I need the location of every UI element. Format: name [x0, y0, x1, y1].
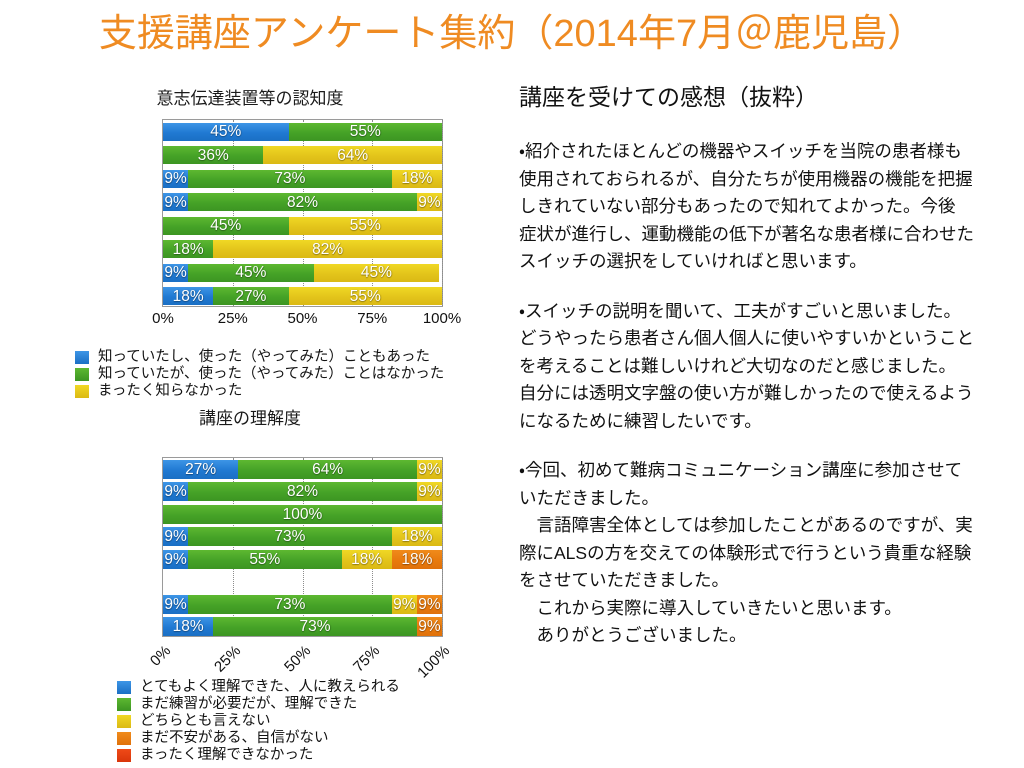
chart-awareness-legend: 知っていたし、使った（やってみた）こともあった知っていたが、使った（やってみた）…: [75, 349, 444, 400]
bar-value-label: 82%: [312, 242, 343, 258]
bar-value-label: 9%: [418, 462, 440, 478]
legend-swatch-icon: [75, 351, 89, 364]
comments-heading: 講座を受けての感想（抜粋）: [519, 82, 1014, 112]
bar-value-label: 73%: [274, 529, 305, 545]
bar-segment: 9%: [417, 482, 442, 501]
bar-row: 9%73%18%: [163, 527, 442, 546]
bar-segment: 73%: [188, 170, 392, 188]
bar-segment: 55%: [289, 123, 442, 141]
bar-value-label: 55%: [350, 289, 381, 305]
bar-value-label: 9%: [164, 195, 186, 211]
bar-value-label: 9%: [164, 171, 186, 187]
bar-segment: 9%: [163, 193, 188, 211]
bar-row: 9%82%9%: [163, 482, 442, 501]
bar-segment: 45%: [163, 217, 289, 235]
bar-value-label: 18%: [351, 552, 382, 568]
bar-segment: 18%: [392, 527, 442, 546]
x-tick-label: 0%: [152, 311, 174, 327]
bar-segment: 82%: [188, 193, 417, 211]
chart-awareness-x-axis: 0%25%50%75%100%: [162, 311, 443, 341]
comments-list: ・紹介されたほとんどの機器やスイッチを当院の患者様も 使用されておられるが、自分…: [519, 138, 1014, 650]
bar-segment: 100%: [163, 505, 442, 524]
bar-segment: 9%: [163, 550, 188, 569]
bar-segment: 55%: [289, 287, 442, 305]
legend-item[interactable]: 知っていたが、使った（やってみた）ことはなかった: [75, 366, 444, 383]
legend-label: 知っていたが、使った（やってみた）ことはなかった: [98, 366, 444, 383]
comments-panel: 講座を受けての感想（抜粋） ・紹介されたほとんどの機器やスイッチを当院の患者様も…: [519, 82, 1014, 650]
bar-value-label: 82%: [287, 484, 318, 500]
bar-value-label: 9%: [418, 484, 440, 500]
bar-value-label: 55%: [249, 552, 280, 568]
legend-label: どちらとも言えない: [140, 713, 271, 730]
bar-value-label: 45%: [235, 265, 266, 281]
bar-segment: 45%: [314, 264, 440, 282]
bar-value-label: 9%: [418, 195, 440, 211]
legend-swatch-icon: [117, 698, 131, 711]
bar-segment: 64%: [238, 460, 417, 479]
chart-understanding-legend: とてもよく理解できた、人に教えられるまだ練習が必要だが、理解できたどちらとも言え…: [117, 679, 400, 764]
bar-value-label: 36%: [198, 148, 229, 164]
bar-segment: 9%: [392, 595, 417, 614]
legend-item[interactable]: とてもよく理解できた、人に教えられる: [117, 679, 400, 696]
x-tick-label: 0%: [148, 643, 175, 670]
bar-value-label: 73%: [274, 171, 305, 187]
legend-item[interactable]: 知っていたし、使った（やってみた）こともあった: [75, 349, 444, 366]
x-tick-label: 100%: [423, 311, 461, 327]
bar-row: 18%82%: [163, 240, 442, 258]
legend-swatch-icon: [117, 732, 131, 745]
bar-segment: 18%: [163, 287, 213, 305]
bar-segment: 9%: [163, 527, 188, 546]
x-tick-label: 75%: [357, 311, 387, 327]
legend-item[interactable]: どちらとも言えない: [117, 713, 400, 730]
bar-row: 45%55%: [163, 217, 442, 235]
chart-awareness-title: 意志伝達装置等の認知度: [0, 88, 500, 110]
bar-value-label: 73%: [300, 619, 331, 635]
bar-value-label: 9%: [164, 597, 186, 613]
bar-row: 45%55%: [163, 123, 442, 141]
legend-item[interactable]: まったく知らなかった: [75, 383, 444, 400]
bar-value-label: 9%: [418, 619, 440, 635]
comment-paragraph: ・紹介されたほとんどの機器やスイッチを当院の患者様も 使用されておられるが、自分…: [519, 138, 1014, 276]
bar-value-label: 18%: [401, 171, 432, 187]
bar-segment: 18%: [163, 240, 213, 258]
x-tick-label: 50%: [287, 311, 317, 327]
bar-value-label: 9%: [164, 265, 186, 281]
bar-value-label: 64%: [337, 148, 368, 164]
bar-row: 9%45%45%: [163, 264, 442, 282]
bar-segment: 18%: [392, 550, 442, 569]
x-tick-label: 25%: [218, 311, 248, 327]
legend-label: 知っていたし、使った（やってみた）こともあった: [98, 349, 430, 366]
bar-row: 27%64%9%: [163, 460, 442, 479]
bar-value-label: 18%: [173, 619, 204, 635]
bar-value-label: 18%: [401, 529, 432, 545]
x-tick-label: 75%: [351, 643, 384, 676]
chart-understanding-plot-area: 27%64%9%9%82%9%100%9%73%18%9%55%18%18%9%…: [162, 457, 443, 637]
x-tick-label: 100%: [415, 643, 453, 681]
bar-segment: 64%: [263, 146, 442, 164]
bar-value-label: 18%: [173, 289, 204, 305]
legend-item[interactable]: まったく理解できなかった: [117, 747, 400, 764]
bar-row: 9%82%9%: [163, 193, 442, 211]
bar-row: 9%73%9%9%: [163, 595, 442, 614]
chart-understanding-title: 講座の理解度: [0, 408, 500, 430]
bar-segment: 45%: [188, 264, 314, 282]
bar-value-label: 9%: [164, 529, 186, 545]
bar-value-label: 100%: [283, 507, 323, 523]
chart-understanding-x-axis: 0%25%50%75%100%: [162, 641, 443, 671]
legend-label: まだ練習が必要だが、理解できた: [140, 696, 357, 713]
bar-value-label: 45%: [210, 218, 241, 234]
bar-value-label: 18%: [401, 552, 432, 568]
legend-label: まったく理解できなかった: [140, 747, 313, 764]
legend-swatch-icon: [117, 715, 131, 728]
bar-value-label: 9%: [164, 552, 186, 568]
legend-swatch-icon: [117, 681, 131, 694]
comment-paragraph: ・今回、初めて難病コミュニケーション講座に参加させて いただきました。 言語障害…: [519, 457, 1014, 650]
bar-row: 9%55%18%18%: [163, 550, 442, 569]
x-tick-label: 25%: [212, 643, 245, 676]
legend-swatch-icon: [75, 368, 89, 381]
bar-value-label: 82%: [287, 195, 318, 211]
legend-swatch-icon: [75, 385, 89, 398]
x-tick-label: 50%: [281, 643, 314, 676]
bar-segment: 18%: [392, 170, 442, 188]
bar-row: 18%73%9%: [163, 617, 442, 636]
bar-segment: 9%: [163, 264, 188, 282]
bar-value-label: 45%: [361, 265, 392, 281]
bar-segment: 73%: [213, 617, 417, 636]
chart-awareness-plot-area: 45%55%36%64%9%73%18%9%82%9%45%55%18%82%9…: [162, 119, 443, 307]
bar-value-label: 64%: [312, 462, 343, 478]
chart-awareness: 意志伝達装置等の認知度 透明文字盤口文字携帯型会話補助装置伝の心オペレートナビH…: [0, 88, 500, 338]
bar-value-label: 73%: [274, 597, 305, 613]
bar-row: [163, 572, 442, 591]
bar-row: 9%73%18%: [163, 170, 442, 188]
bar-segment: 9%: [417, 460, 442, 479]
legend-item[interactable]: まだ練習が必要だが、理解できた: [117, 696, 400, 713]
page-title: 支援講座アンケート集約（2014年7月＠鹿児島）: [0, 8, 1024, 60]
chart-understanding: 講座の理解度 透明文字盤口文字携帯型会話補助装置伝の心オペレートナビHearty…: [0, 408, 500, 668]
bar-segment: 55%: [188, 550, 341, 569]
bar-segment: 82%: [213, 240, 442, 258]
bar-value-label: 55%: [350, 218, 381, 234]
bar-segment: 9%: [417, 617, 442, 636]
bar-row: 18%27%55%: [163, 287, 442, 305]
legend-label: まだ不安がある、自信がない: [140, 730, 329, 747]
legend-swatch-icon: [117, 749, 131, 762]
comment-paragraph: ・スイッチの説明を聞いて、工夫がすごいと思いました。 どうやったら患者さん個人個…: [519, 298, 1014, 436]
bar-row: 36%64%: [163, 146, 442, 164]
bar-segment: 82%: [188, 482, 417, 501]
gridline: [442, 458, 443, 636]
bar-segment: 27%: [213, 287, 288, 305]
slide: 支援講座アンケート集約（2014年7月＠鹿児島） 意志伝達装置等の認知度 透明文…: [0, 0, 1024, 768]
gridline: [442, 120, 443, 306]
bar-segment: 18%: [163, 617, 213, 636]
bar-segment: 73%: [188, 595, 392, 614]
bar-value-label: 27%: [185, 462, 216, 478]
bar-row: 100%: [163, 505, 442, 524]
bar-segment: 36%: [163, 146, 263, 164]
bar-value-label: 27%: [235, 289, 266, 305]
bar-segment: 73%: [188, 527, 392, 546]
bar-segment: 9%: [163, 595, 188, 614]
bar-segment: 55%: [289, 217, 442, 235]
bar-segment: 9%: [417, 193, 442, 211]
bar-segment: 9%: [163, 170, 188, 188]
bar-value-label: 9%: [418, 597, 440, 613]
bar-value-label: 18%: [173, 242, 204, 258]
legend-label: まったく知らなかった: [98, 383, 242, 400]
bar-segment: 9%: [417, 595, 442, 614]
bar-segment: 27%: [163, 460, 238, 479]
legend-item[interactable]: まだ不安がある、自信がない: [117, 730, 400, 747]
bar-segment: 45%: [163, 123, 289, 141]
bar-value-label: 55%: [350, 124, 381, 140]
bar-segment: 18%: [342, 550, 392, 569]
bar-segment: 9%: [163, 482, 188, 501]
bar-value-label: 9%: [164, 484, 186, 500]
legend-label: とてもよく理解できた、人に教えられる: [140, 679, 400, 696]
bar-value-label: 45%: [210, 124, 241, 140]
bar-value-label: 9%: [393, 597, 415, 613]
